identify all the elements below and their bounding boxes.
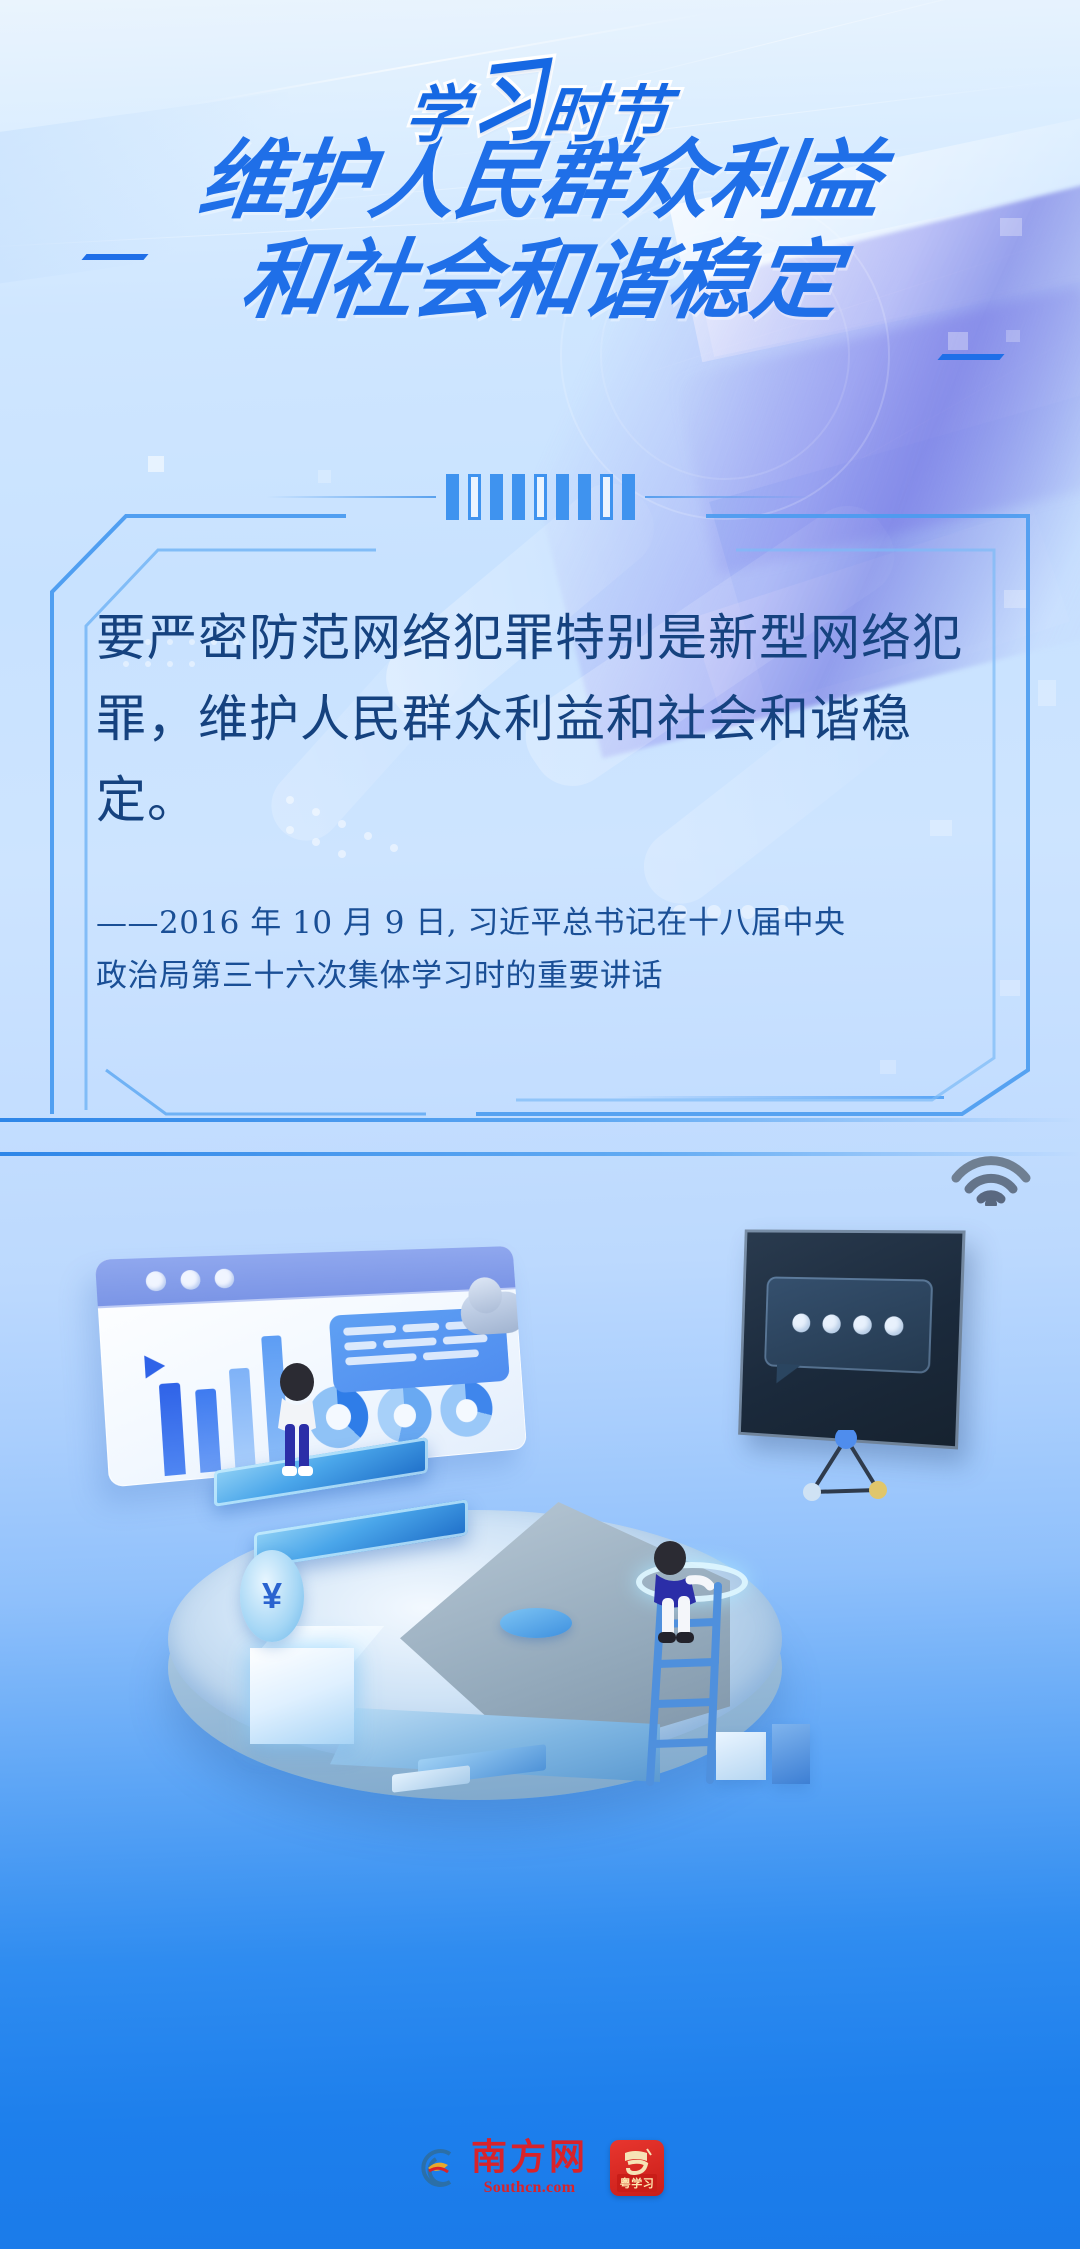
- card-text-line: [345, 1353, 417, 1365]
- chat-dot-icon: [884, 1316, 903, 1336]
- brand-logo: 学习时节: [0, 48, 1080, 158]
- divider-tick: [622, 474, 635, 520]
- headline-accent-slash: [937, 354, 1004, 360]
- footer-logos: 南方网 Southcn.com 粤学习: [0, 2139, 1080, 2197]
- quote-block: 要严密防范网络犯罪特别是新型网络犯罪，维护人民群众利益和社会和谐稳定。 ——20…: [96, 598, 986, 1004]
- divider-tick: [468, 474, 481, 520]
- window-dot-icon: [180, 1269, 201, 1289]
- divider-line-left: [266, 496, 436, 498]
- headline: 维护人民群众利益 和社会和谐稳定: [0, 138, 1080, 325]
- illustration-scene: ¥: [0, 1190, 1080, 2030]
- pixel-square: [948, 332, 968, 350]
- divider-tick: [556, 474, 569, 520]
- divider-tick: [512, 474, 525, 520]
- wifi-icon: [946, 1144, 1036, 1206]
- card-text-row: [345, 1348, 496, 1365]
- card-text-line: [443, 1334, 488, 1344]
- headline-line-2: 和社会和谐稳定: [0, 238, 1080, 326]
- southcn-en-label: Southcn.com: [484, 2179, 576, 2197]
- divider-tick: [578, 474, 591, 520]
- southcn-swirl-icon: [416, 2145, 462, 2191]
- pixel-square: [1006, 330, 1020, 342]
- quote-attribution-line-1: ——2016 年 10 月 9 日, 习近平总书记在十八届中央: [96, 897, 986, 950]
- stage-platform: ¥: [0, 1440, 1080, 2000]
- card-text-line: [343, 1325, 396, 1336]
- quote-attribution: ——2016 年 10 月 9 日, 习近平总书记在十八届中央 政治局第三十六次…: [96, 897, 986, 1004]
- divider-line-right: [645, 496, 815, 498]
- yue-learning-logo[interactable]: 粤学习: [610, 2140, 664, 2196]
- brand-char-xue: 学: [402, 78, 474, 151]
- currency-coin: ¥: [240, 1550, 304, 1642]
- tick-group: [436, 474, 645, 520]
- person-climbing: [648, 1540, 714, 1652]
- card-text-line: [402, 1323, 439, 1333]
- tick-divider: [0, 474, 1080, 520]
- window-dot-icon: [145, 1270, 166, 1291]
- glow-box: [250, 1648, 354, 1744]
- southcn-text: 南方网 Southcn.com: [471, 2139, 588, 2197]
- divider-tick: [490, 474, 503, 520]
- chat-dot-icon: [822, 1314, 841, 1333]
- pixel-square: [1038, 680, 1056, 706]
- southcn-cn-label: 南方网: [471, 2139, 588, 2175]
- poster-root: 学习时节 维护人民群众利益 和社会和谐稳定 要严密防范网络犯罪特别是新型网络犯罪…: [0, 0, 1080, 2249]
- brand-char-xi-calligraphy: 习: [468, 24, 548, 164]
- divider-tick: [534, 474, 547, 520]
- chat-dot-icon: [852, 1315, 871, 1335]
- quote-text: 要严密防范网络犯罪特别是新型网络犯罪，维护人民群众利益和社会和谐稳定。: [96, 598, 986, 841]
- card-text-line: [383, 1337, 437, 1348]
- gear-ring: [500, 1608, 572, 1638]
- southcn-logo[interactable]: 南方网 Southcn.com: [416, 2139, 588, 2197]
- window-dot-icon: [214, 1268, 235, 1288]
- small-cube: [772, 1724, 810, 1784]
- divider-tick: [446, 474, 459, 520]
- pixel-square: [148, 456, 164, 472]
- play-triangle-icon: [144, 1354, 166, 1378]
- quote-attribution-line-2: 政治局第三十六次集体学习时的重要讲话: [96, 950, 986, 1003]
- card-text-line: [344, 1341, 377, 1351]
- cloud-icon: [459, 1291, 527, 1336]
- brand-logo-text: 学习时节: [402, 48, 679, 158]
- chat-screen: [738, 1229, 966, 1449]
- chat-bubble: [764, 1276, 933, 1373]
- card-text-row: [344, 1334, 495, 1351]
- divider-tick: [600, 474, 613, 520]
- yue-book-icon: [620, 2147, 654, 2179]
- person-standing: [268, 1362, 326, 1480]
- chat-dot-icon: [792, 1313, 810, 1332]
- card-text-line: [423, 1349, 479, 1360]
- divider-rule: [0, 1152, 1080, 1156]
- brand-char-shijie: 时节: [540, 78, 676, 151]
